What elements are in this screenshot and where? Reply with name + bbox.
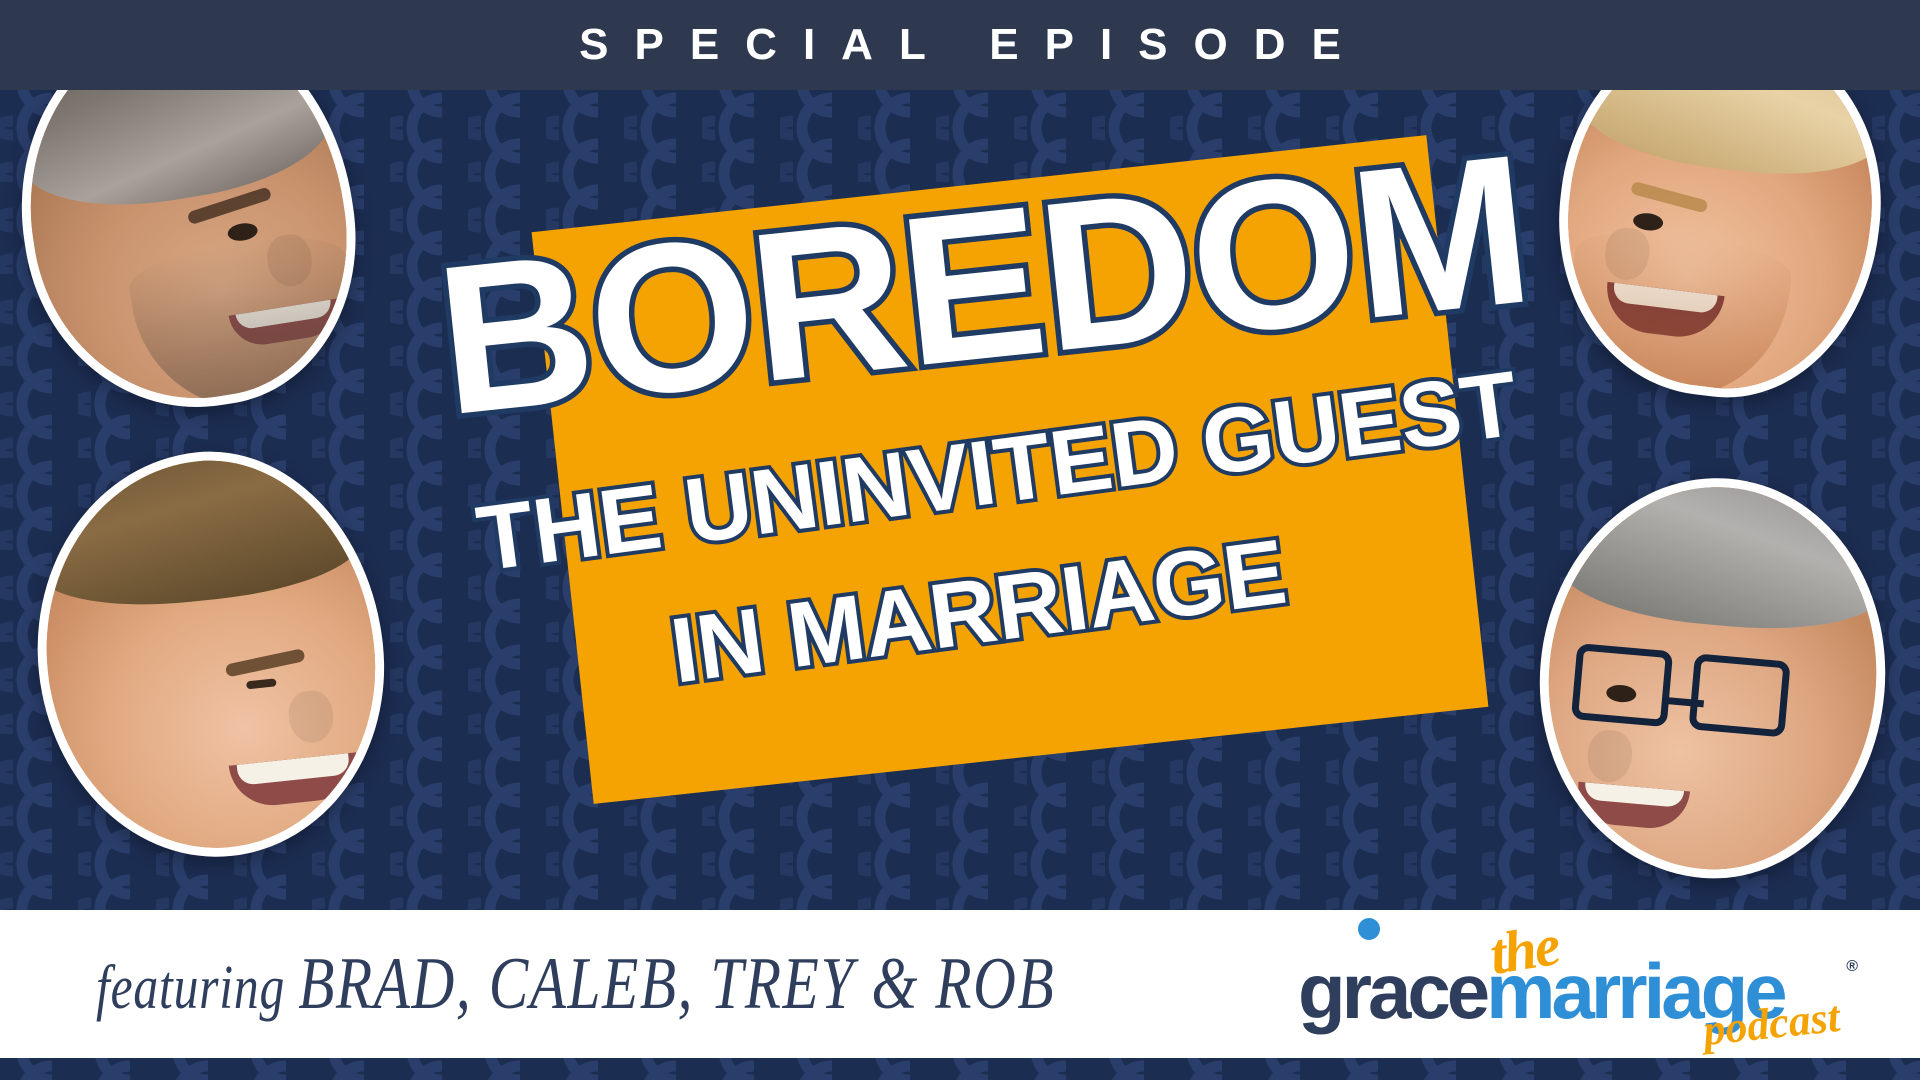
- featuring-host-names: BRAD, CALEB, TREY & ROB: [298, 943, 1055, 1025]
- host-photo-trey: [18, 435, 403, 874]
- footer-bar: featuring BRAD, CALEB, TREY & ROB the gr…: [0, 910, 1920, 1058]
- episode-thumbnail: SPECIAL EPISODE BOREDOM THE UNINVITED GU…: [0, 0, 1920, 1080]
- logo-g-dot-icon: [1358, 918, 1380, 940]
- logo-the-script: the: [1485, 911, 1563, 988]
- title-banner-shape: [532, 135, 1489, 804]
- scallop-pattern-strip: [0, 1058, 1920, 1080]
- featuring-label: featuring: [96, 954, 298, 1022]
- bottom-accent-strip: [0, 1058, 1920, 1080]
- special-episode-banner: SPECIAL EPISODE: [0, 0, 1920, 90]
- grace-marriage-podcast-logo[interactable]: the gracemarriage podcast ®: [1298, 924, 1858, 1044]
- special-episode-label: SPECIAL EPISODE: [553, 20, 1367, 70]
- featuring-credits: featuring BRAD, CALEB, TREY & ROB: [96, 942, 1055, 1027]
- logo-grace-word: grace: [1298, 952, 1486, 1030]
- host-photo-rob: [1523, 464, 1902, 893]
- logo-registered-mark: ®: [1846, 958, 1858, 976]
